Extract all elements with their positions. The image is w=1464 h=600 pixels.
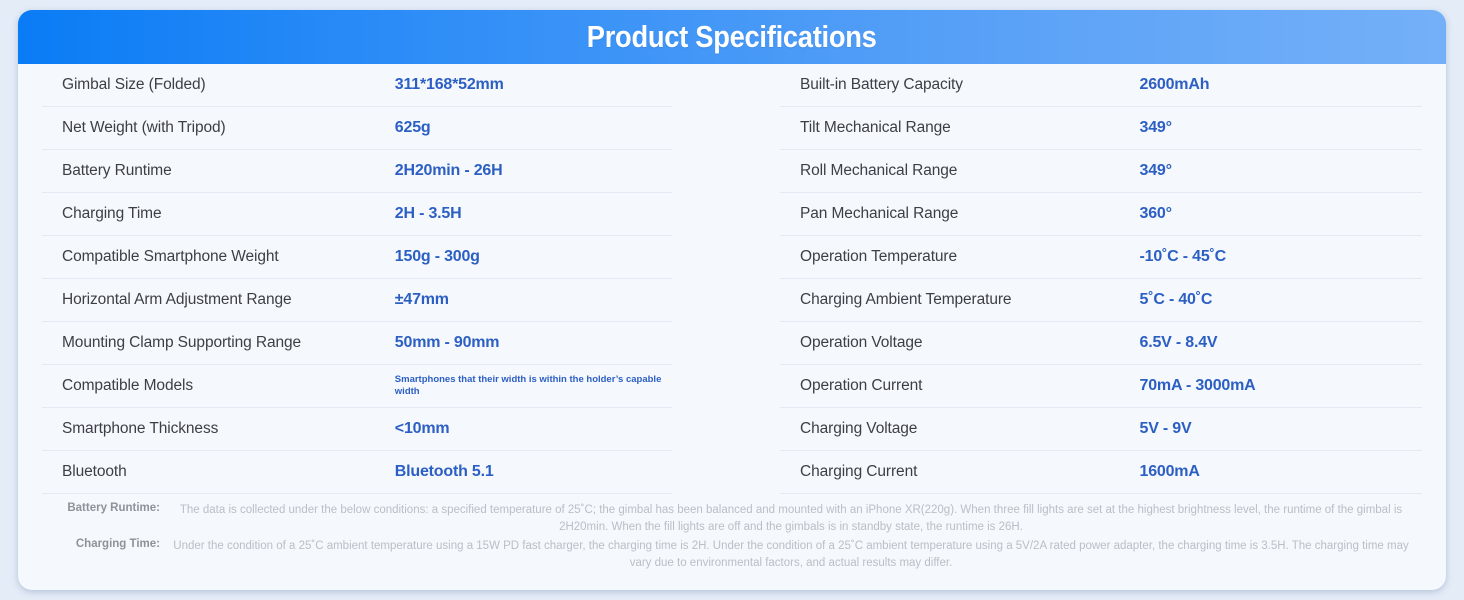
- spec-value: 5˚C - 40˚C: [1140, 291, 1422, 309]
- spec-value: Bluetooth 5.1: [395, 463, 672, 481]
- spec-label: Mounting Clamp Supporting Range: [42, 334, 395, 352]
- spec-label: Roll Mechanical Range: [780, 162, 1140, 180]
- card-header: Product Specifications: [18, 10, 1446, 64]
- spec-value: 1600mA: [1140, 463, 1422, 481]
- spec-value: 2H20min - 26H: [395, 162, 672, 180]
- spec-row: Roll Mechanical Range349°: [780, 150, 1422, 193]
- spec-value: <10mm: [395, 420, 672, 438]
- footnote-text: Under the condition of a 25˚C ambient te…: [166, 538, 1416, 571]
- page-title: Product Specifications: [587, 19, 877, 55]
- spec-row: Built-in Battery Capacity2600mAh: [780, 64, 1422, 107]
- footnote-text: The data is collected under the below co…: [166, 502, 1416, 535]
- footnote: Charging Time:Under the condition of a 2…: [48, 538, 1416, 571]
- spec-value: 360°: [1140, 205, 1422, 223]
- spec-row: Operation Current70mA - 3000mA: [780, 365, 1422, 408]
- spec-row: Pan Mechanical Range360°: [780, 193, 1422, 236]
- spec-label: Charging Current: [780, 463, 1140, 481]
- spec-value: -10˚C - 45˚C: [1140, 248, 1422, 266]
- spec-value: 6.5V - 8.4V: [1140, 334, 1422, 352]
- spec-value: Smartphones that their width is within t…: [395, 374, 672, 398]
- footnote-label: Battery Runtime:: [48, 502, 166, 514]
- spec-label: Compatible Models: [42, 377, 395, 395]
- spec-label: Compatible Smartphone Weight: [42, 248, 395, 266]
- spec-column-right: Built-in Battery Capacity2600mAhTilt Mec…: [732, 64, 1422, 494]
- spec-label: Battery Runtime: [42, 162, 395, 180]
- spec-label: Operation Temperature: [780, 248, 1140, 266]
- spec-label: Operation Voltage: [780, 334, 1140, 352]
- spec-label: Tilt Mechanical Range: [780, 119, 1140, 137]
- spec-label: Smartphone Thickness: [42, 420, 395, 438]
- footnote: Battery Runtime:The data is collected un…: [48, 502, 1416, 535]
- spec-label: Pan Mechanical Range: [780, 205, 1140, 223]
- spec-value: 349°: [1140, 162, 1422, 180]
- spec-label: Charging Time: [42, 205, 395, 223]
- spec-row: Charging Current1600mA: [780, 451, 1422, 494]
- spec-row: Horizontal Arm Adjustment Range±47mm: [42, 279, 672, 322]
- spec-column-left: Gimbal Size (Folded)311*168*52mmNet Weig…: [42, 64, 732, 494]
- spec-row: Operation Temperature-10˚C - 45˚C: [780, 236, 1422, 279]
- spec-row: BluetoothBluetooth 5.1: [42, 451, 672, 494]
- spec-row: Battery Runtime2H20min - 26H: [42, 150, 672, 193]
- spec-value: 349°: [1140, 119, 1422, 137]
- spec-value: 70mA - 3000mA: [1140, 377, 1422, 395]
- spec-label: Charging Voltage: [780, 420, 1140, 438]
- spec-row: Mounting Clamp Supporting Range50mm - 90…: [42, 322, 672, 365]
- spec-label: Net Weight (with Tripod): [42, 119, 395, 137]
- spec-row: Charging Time2H - 3.5H: [42, 193, 672, 236]
- spec-value: 2H - 3.5H: [395, 205, 672, 223]
- spec-value: ±47mm: [395, 291, 672, 309]
- product-specifications-card: Product Specifications Gimbal Size (Fold…: [18, 10, 1446, 590]
- spec-row: Net Weight (with Tripod)625g: [42, 107, 672, 150]
- spec-row: Gimbal Size (Folded)311*168*52mm: [42, 64, 672, 107]
- spec-label: Bluetooth: [42, 463, 395, 481]
- spec-label: Gimbal Size (Folded): [42, 76, 395, 94]
- spec-label: Operation Current: [780, 377, 1140, 395]
- spec-row: Smartphone Thickness<10mm: [42, 408, 672, 451]
- footnotes-section: Battery Runtime:The data is collected un…: [18, 494, 1446, 572]
- spec-label: Charging Ambient Temperature: [780, 291, 1140, 309]
- spec-value: 625g: [395, 119, 672, 137]
- spec-row: Charging Voltage5V - 9V: [780, 408, 1422, 451]
- spec-row: Compatible Smartphone Weight150g - 300g: [42, 236, 672, 279]
- spec-row: Operation Voltage6.5V - 8.4V: [780, 322, 1422, 365]
- spec-label: Built-in Battery Capacity: [780, 76, 1140, 94]
- spec-label: Horizontal Arm Adjustment Range: [42, 291, 395, 309]
- spec-value: 5V - 9V: [1140, 420, 1422, 438]
- footnote-label: Charging Time:: [48, 538, 166, 550]
- spec-value: 311*168*52mm: [395, 76, 672, 94]
- spec-row: Charging Ambient Temperature5˚C - 40˚C: [780, 279, 1422, 322]
- spec-value: 150g - 300g: [395, 248, 672, 266]
- spec-row: Tilt Mechanical Range349°: [780, 107, 1422, 150]
- spec-value: 2600mAh: [1140, 76, 1422, 94]
- spec-row: Compatible ModelsSmartphones that their …: [42, 365, 672, 408]
- specifications-body: Gimbal Size (Folded)311*168*52mmNet Weig…: [18, 64, 1446, 494]
- spec-value: 50mm - 90mm: [395, 334, 672, 352]
